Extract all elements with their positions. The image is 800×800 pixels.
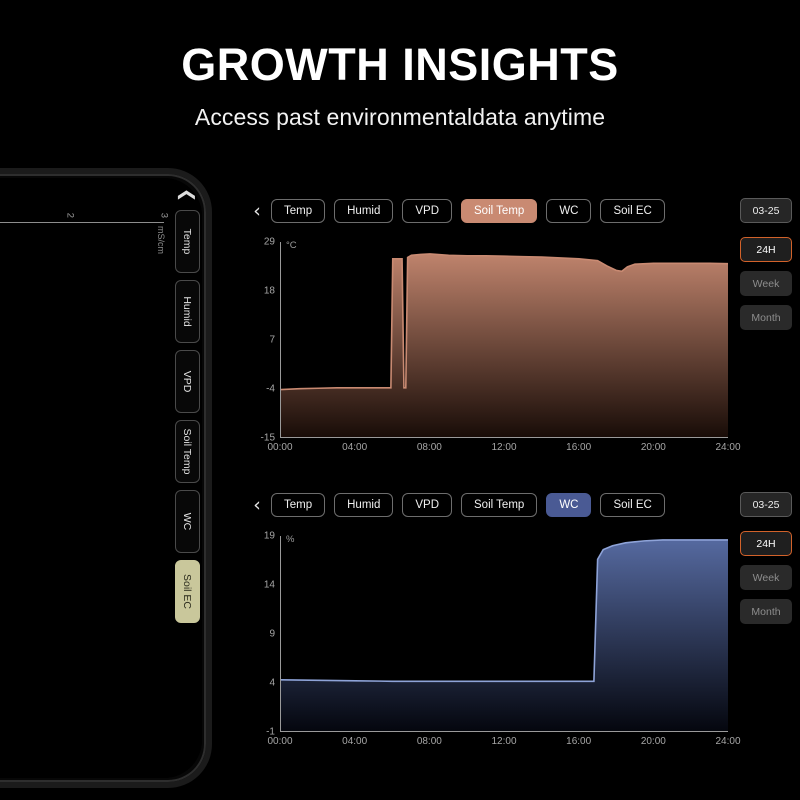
panel-soil-temp: ‹ TempHumidVPDSoil TempWCSoil EC °C 2918… bbox=[248, 196, 788, 458]
phone-metric-tabs: TempHumidVPDSoil TempWCSoil EC bbox=[175, 210, 200, 623]
x-tick-label: 16:00 bbox=[566, 442, 591, 453]
range-button-week[interactable]: Week bbox=[740, 271, 792, 296]
phone-mockup: ❮ TempHumidVPDSoil TempWCSoil EC mS/cm 0… bbox=[0, 168, 212, 788]
range-button-month[interactable]: Month bbox=[740, 599, 792, 624]
soil-temp-chartbox: °C 29187-4-15 00:0004:0008:0012:0016:002… bbox=[248, 242, 748, 458]
phone-tab-soil-temp[interactable]: Soil Temp bbox=[175, 420, 200, 483]
app-root: GROWTH INSIGHTS Access past environmenta… bbox=[0, 0, 800, 800]
phone-screen: ❮ TempHumidVPDSoil TempWCSoil EC mS/cm 0… bbox=[0, 178, 202, 778]
tab-wc[interactable]: WC bbox=[546, 199, 591, 223]
y-tick-label: 29 bbox=[264, 237, 275, 248]
y-tick-label: 19 bbox=[264, 531, 275, 542]
wc-y-axis: 191494-1 bbox=[248, 536, 280, 732]
wc-chartbox: % 191494-1 00:0004:0008:0012:0016:0020:0… bbox=[248, 536, 748, 752]
x-tick-label: 08:00 bbox=[417, 442, 442, 453]
tab-soil-temp[interactable]: Soil Temp bbox=[461, 493, 537, 517]
x-tick-label: 20:00 bbox=[641, 442, 666, 453]
tab-humid[interactable]: Humid bbox=[334, 493, 393, 517]
wc-x-axis: 00:0004:0008:0012:0016:0020:0024:00 bbox=[280, 736, 728, 752]
y-tick-label: 18 bbox=[264, 286, 275, 297]
x-tick-label: 00:00 bbox=[267, 442, 292, 453]
header: GROWTH INSIGHTS Access past environmenta… bbox=[0, 0, 800, 131]
phone-tab-temp[interactable]: Temp bbox=[175, 210, 200, 273]
phone-plot-area bbox=[0, 222, 164, 762]
phone-chart: mS/cm 0123 bbox=[0, 192, 164, 762]
soil-temp-plot-area bbox=[280, 242, 728, 438]
x-tick-label: 20:00 bbox=[641, 736, 666, 747]
phone-tab-soil-ec[interactable]: Soil EC bbox=[175, 560, 200, 623]
x-tick-label: 08:00 bbox=[417, 736, 442, 747]
range-button-month[interactable]: Month bbox=[740, 305, 792, 330]
phone-app-ui: ❮ TempHumidVPDSoil TempWCSoil EC mS/cm 0… bbox=[0, 178, 202, 778]
wc-metric-tabs: TempHumidVPDSoil TempWCSoil EC bbox=[271, 493, 665, 517]
wc-side-controls: 03-2524HWeekMonth bbox=[740, 492, 796, 633]
tab-humid[interactable]: Humid bbox=[334, 199, 393, 223]
x-tick-label: 04:00 bbox=[342, 736, 367, 747]
tab-temp[interactable]: Temp bbox=[271, 493, 325, 517]
y-tick-label: -4 bbox=[266, 384, 275, 395]
y-tick-label: 4 bbox=[269, 678, 275, 689]
y-tick-label: 9 bbox=[269, 629, 275, 640]
date-button[interactable]: 03-25 bbox=[740, 198, 792, 223]
x-tick-label: 24:00 bbox=[715, 442, 740, 453]
phone-tab-humid[interactable]: Humid bbox=[175, 280, 200, 343]
date-button[interactable]: 03-25 bbox=[740, 492, 792, 517]
phone-back-chevron-icon[interactable]: ❮ bbox=[179, 188, 196, 202]
range-button-week[interactable]: Week bbox=[740, 565, 792, 590]
wc-tab-row: ‹ TempHumidVPDSoil TempWCSoil EC bbox=[248, 490, 788, 520]
phone-y-tick-label: 3 bbox=[159, 213, 170, 218]
x-tick-label: 00:00 bbox=[267, 736, 292, 747]
soil-temp-metric-tabs: TempHumidVPDSoil TempWCSoil EC bbox=[271, 199, 665, 223]
y-tick-label: 7 bbox=[269, 335, 275, 346]
tab-soil-ec[interactable]: Soil EC bbox=[600, 493, 664, 517]
phone-y-tick-label: 2 bbox=[65, 213, 76, 218]
page-title: GROWTH INSIGHTS bbox=[0, 40, 800, 90]
y-tick-label: 14 bbox=[264, 580, 275, 591]
wc-back-chevron-icon[interactable]: ‹ bbox=[248, 496, 266, 515]
tab-vpd[interactable]: VPD bbox=[402, 493, 452, 517]
page-subtitle: Access past environmentaldata anytime bbox=[0, 104, 800, 131]
x-tick-label: 04:00 bbox=[342, 442, 367, 453]
x-tick-label: 12:00 bbox=[491, 442, 516, 453]
phone-tab-vpd[interactable]: VPD bbox=[175, 350, 200, 413]
soil-temp-tab-row: ‹ TempHumidVPDSoil TempWCSoil EC bbox=[248, 196, 788, 226]
tab-temp[interactable]: Temp bbox=[271, 199, 325, 223]
soil-temp-back-chevron-icon[interactable]: ‹ bbox=[248, 202, 266, 221]
soil-temp-y-axis: 29187-4-15 bbox=[248, 242, 280, 438]
x-tick-label: 12:00 bbox=[491, 736, 516, 747]
range-button-24h[interactable]: 24H bbox=[740, 531, 792, 556]
x-tick-label: 24:00 bbox=[715, 736, 740, 747]
phone-y-axis: 0123 bbox=[0, 192, 164, 222]
range-button-24h[interactable]: 24H bbox=[740, 237, 792, 262]
phone-tab-wc[interactable]: WC bbox=[175, 490, 200, 553]
soil-temp-side-controls: 03-2524HWeekMonth bbox=[740, 198, 796, 339]
panel-wc: ‹ TempHumidVPDSoil TempWCSoil EC % 19149… bbox=[248, 490, 788, 752]
tab-wc[interactable]: WC bbox=[546, 493, 591, 517]
wc-plot-area bbox=[280, 536, 728, 732]
tab-vpd[interactable]: VPD bbox=[402, 199, 452, 223]
tab-soil-temp[interactable]: Soil Temp bbox=[461, 199, 537, 223]
x-tick-label: 16:00 bbox=[566, 736, 591, 747]
soil-temp-x-axis: 00:0004:0008:0012:0016:0020:0024:00 bbox=[280, 442, 728, 458]
tab-soil-ec[interactable]: Soil EC bbox=[600, 199, 664, 223]
